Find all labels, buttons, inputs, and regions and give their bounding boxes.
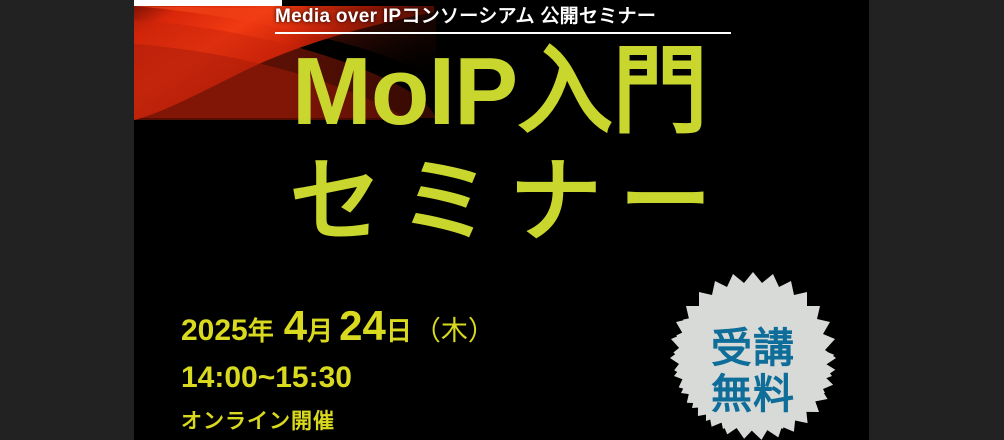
date-year-unit: 年 xyxy=(248,318,274,344)
event-time: 14:00~15:30 xyxy=(181,363,495,393)
date-day-of-week: （木） xyxy=(414,318,495,345)
slide-page: Media over IPコンソーシアム 公開セミナー MoIP入門 セミナー … xyxy=(0,0,1004,440)
header-title: Media over IPコンソーシアム 公開セミナー xyxy=(275,1,656,28)
date-day: 24 xyxy=(339,305,386,347)
title-line-secondary: セミナー xyxy=(150,156,869,248)
presentation-slide: Media over IPコンソーシアム 公開セミナー MoIP入門 セミナー … xyxy=(134,0,869,440)
event-date: 2025 年 4 月 24 日 （木） xyxy=(181,305,495,347)
title-block: MoIP入門 セミナー xyxy=(134,44,869,248)
header-divider xyxy=(275,32,731,34)
event-venue: オンライン開催 xyxy=(181,411,495,432)
date-month: 4 xyxy=(284,305,307,347)
free-admission-badge: 受講 無料 xyxy=(653,272,853,440)
date-day-unit: 日 xyxy=(386,318,412,344)
date-month-unit: 月 xyxy=(307,318,333,344)
date-year: 2025 xyxy=(181,316,248,346)
event-info-block: 2025 年 4 月 24 日 （木） 14:00~15:30 オンライン開催 xyxy=(181,305,495,432)
starburst-icon xyxy=(653,272,853,440)
title-line-primary: MoIP入門 xyxy=(134,44,869,140)
header: Media over IPコンソーシアム 公開セミナー xyxy=(134,0,869,40)
